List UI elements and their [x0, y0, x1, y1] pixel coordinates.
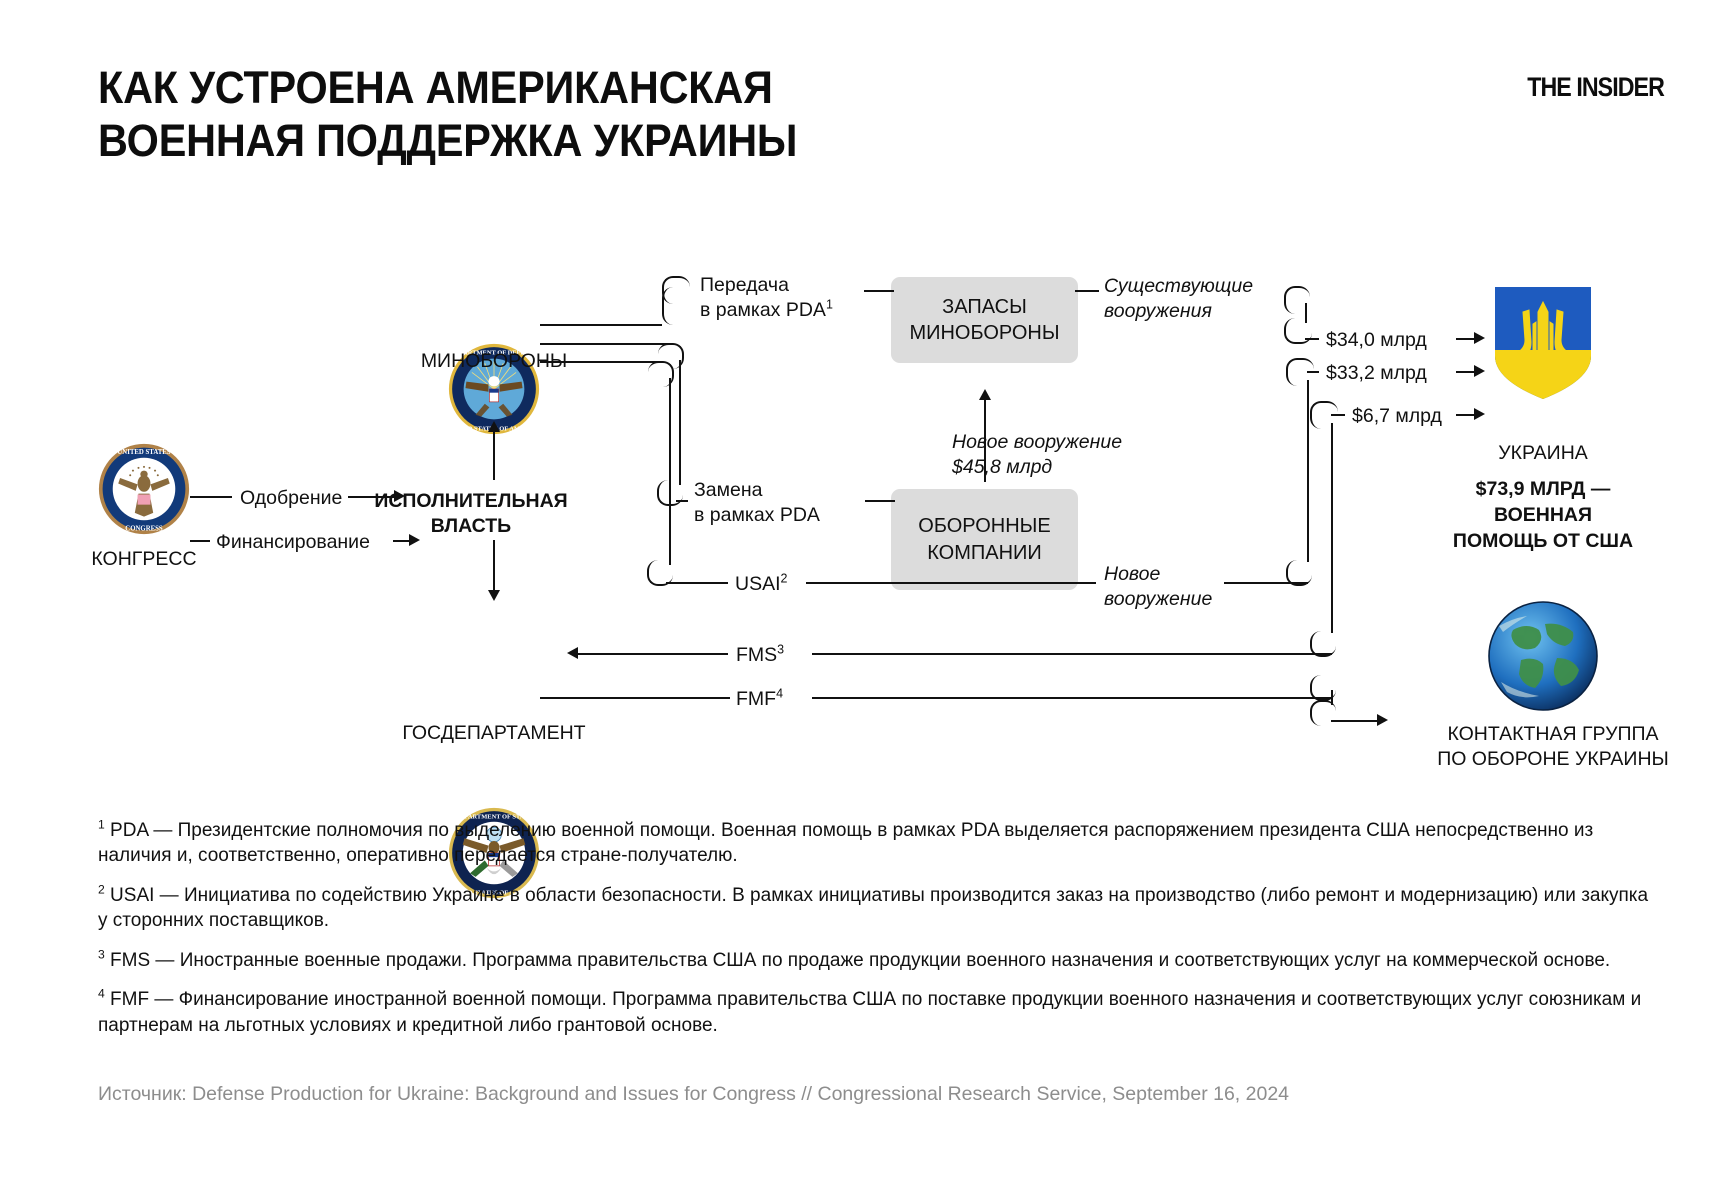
- arrow-fms-to-state: [567, 647, 578, 659]
- box-dod-stocks-line-1: ЗАПАСЫ: [909, 294, 1059, 320]
- total-aid-line-2: ВОЕННАЯ: [1403, 503, 1683, 529]
- connector-approval-arrow-line: [348, 496, 394, 498]
- new-weapons-line-2: $45,8 млрд: [952, 455, 1122, 480]
- usai-text: USAI: [735, 573, 781, 595]
- connector-pda-to-stocks: [864, 290, 894, 292]
- connector-amount2-arrow-line: [1456, 371, 1474, 373]
- edge-label-fmf: FMF4: [736, 687, 783, 712]
- brand-logo: THE INSIDER: [1527, 72, 1664, 103]
- footnote-text-2: USAI — Инициатива по содействию Украине …: [98, 885, 1648, 931]
- edge-label-usai: USAI2: [735, 572, 787, 597]
- connector-dod-usai-vertical: [669, 378, 671, 565]
- executive-line-1: ИСПОЛНИТЕЛЬНАЯ: [326, 489, 616, 514]
- footnote-text-1: PDA — Президентские полномочия по выделе…: [98, 820, 1593, 866]
- connector-usai-to-companies: [806, 582, 1096, 584]
- footnote-item: 2 USAI — Инициатива по содействию Украин…: [98, 883, 1658, 934]
- edge-label-pda-transfer: Передача в рамках PDA1: [700, 273, 833, 323]
- page-title-line-1: КАК УСТРОЕНА АМЕРИКАНСКАЯ: [98, 62, 1018, 115]
- elbow-new-weapons-right-up: [1286, 560, 1312, 586]
- fmf-text: FMF: [736, 688, 776, 710]
- footnote-item: 3 FMS — Иностранные военные продажи. Про…: [98, 948, 1658, 973]
- elbow-fms-up: [1310, 631, 1336, 657]
- connector-congress-approval: [190, 496, 232, 498]
- connector-replace-label-stub: [676, 500, 688, 502]
- fms-footnote-marker: 3: [777, 643, 784, 657]
- connector-fms-run: [812, 653, 1332, 655]
- connector-replace-to-companies: [865, 500, 895, 502]
- connector-executive-state-line: [493, 540, 495, 590]
- total-aid-amount: $73,9 МЛРД — ВОЕННАЯ ПОМОЩЬ ОТ США: [1403, 477, 1683, 555]
- edge-label-financing: Финансирование: [216, 530, 370, 555]
- connector-stocks-existing-stub: [1075, 290, 1099, 292]
- box-dod-stocks: ЗАПАСЫ МИНОБОРОНЫ: [891, 277, 1078, 363]
- connector-executive-dod-line: [493, 432, 495, 480]
- edge-label-pda-replacement: Замена в рамках PDA: [694, 478, 820, 528]
- amount-label-2: $33,2 млрд: [1326, 361, 1427, 386]
- node-label-congress: КОНГРЕСС: [64, 547, 224, 572]
- node-label-state-dept: ГОСДЕПАРТАМЕНТ: [394, 721, 594, 746]
- edge-label-approval: Одобрение: [240, 486, 342, 511]
- source-line: Источник: Defense Production for Ukraine…: [98, 1083, 1289, 1106]
- elbow-dod-pda-corner: [662, 276, 690, 304]
- connector-dod-usai-stub: [540, 361, 660, 363]
- arrow-financing: [409, 534, 420, 546]
- edge-label-fms: FMS3: [736, 643, 784, 668]
- fms-text: FMS: [736, 644, 777, 666]
- existing-weapons-line-2: вооружения: [1104, 299, 1253, 324]
- total-aid-line-3: ПОМОЩЬ ОТ США: [1403, 529, 1683, 555]
- new-weapons-right-line-2: вооружение: [1104, 587, 1212, 612]
- congress-seal-svg: UNITED STATES CONGRESS: [98, 443, 190, 535]
- connector-amount3-vertical: [1331, 423, 1333, 633]
- page-title: КАК УСТРОЕНА АМЕРИКАНСКАЯ ВОЕННАЯ ПОДДЕР…: [98, 62, 1018, 167]
- svg-text:UNITED STATES: UNITED STATES: [117, 449, 170, 456]
- page-title-line-2: ВОЕННАЯ ПОДДЕРЖКА УКРАИНЫ: [98, 115, 1018, 168]
- box-companies-line-2: КОМПАНИИ: [918, 540, 1050, 566]
- connector-congress-financing: [190, 540, 210, 542]
- contact-group-line-1: КОНТАКТНАЯ ГРУППА: [1403, 722, 1703, 747]
- arrow-amount3-to-ukraine: [1474, 408, 1485, 420]
- connector-fmf-run: [812, 697, 1332, 699]
- arrow-fmf-to-contact-group: [1377, 714, 1388, 726]
- footnotes: 1 PDA — Президентские полномочия по выде…: [98, 818, 1658, 1052]
- box-dod-stocks-line-2: МИНОБОРОНЫ: [909, 320, 1059, 346]
- box-defense-companies: ОБОРОННЫЕ КОМПАНИИ: [891, 489, 1078, 590]
- node-label-contact-group: КОНТАКТНАЯ ГРУППА ПО ОБОРОНЕ УКРАИНЫ: [1403, 722, 1703, 772]
- footnote-text-4: FMF — Финансирование иностранной военной…: [98, 989, 1641, 1035]
- pda-transfer-line-2: в рамках PDA: [700, 299, 826, 321]
- node-label-ukraine: УКРАИНА: [1443, 441, 1643, 466]
- connector-fms-to-state: [578, 653, 728, 655]
- contact-group-line-2: ПО ОБОРОНЕ УКРАИНЫ: [1403, 747, 1703, 772]
- connector-dod-replace-stub: [540, 343, 670, 345]
- connector-dod-pda-stub: [540, 324, 662, 326]
- connector-financing-arrow-line: [393, 540, 409, 542]
- pda-replace-line-2: в рамках PDA: [694, 503, 820, 528]
- arrow-amount2-to-ukraine: [1474, 365, 1485, 377]
- ukraine-emblem-icon: [1492, 284, 1594, 402]
- existing-weapons-line-1: Существующие: [1104, 274, 1253, 299]
- footnote-text-3: FMS — Иностранные военные продажи. Прогр…: [110, 950, 1610, 971]
- globe-icon: [1487, 600, 1599, 712]
- pda-replace-line-1: Замена: [694, 478, 820, 503]
- fmf-footnote-marker: 4: [776, 687, 783, 701]
- footnote-marker-4: 4: [98, 987, 105, 1001]
- connector-amount2-stub: [1307, 371, 1319, 373]
- arrow-companies-to-stocks: [979, 389, 991, 400]
- usai-footnote-marker: 2: [781, 572, 788, 586]
- footnote-marker-3: 3: [98, 947, 105, 961]
- connector-usai-label-stub: [666, 582, 728, 584]
- connector-amount3-stub: [1331, 414, 1345, 416]
- footnote-item: 4 FMF — Финансирование иностранной военн…: [98, 987, 1658, 1038]
- edge-label-new-weapons-right: Новое вооружение: [1104, 562, 1212, 613]
- globe-svg: [1487, 600, 1599, 712]
- arrow-executive-to-dod: [488, 421, 500, 432]
- ukraine-emblem-svg: [1492, 284, 1594, 402]
- connector-amount1-stub: [1305, 338, 1319, 340]
- connector-amount1-arrow-line: [1456, 338, 1474, 340]
- congress-seal-icon: UNITED STATES CONGRESS: [98, 443, 190, 535]
- new-weapons-line-1: Новое вооружение: [952, 430, 1122, 455]
- svg-text:CONGRESS: CONGRESS: [125, 525, 163, 532]
- connector-dod-replace-vertical: [679, 360, 681, 485]
- total-aid-line-1: $73,9 МЛРД —: [1403, 477, 1683, 503]
- footnote-marker-2: 2: [98, 883, 105, 897]
- amount-label-3: $6,7 млрд: [1352, 404, 1442, 429]
- edge-label-existing-weapons: Существующие вооружения: [1104, 274, 1253, 325]
- footnote-item: 1 PDA — Президентские полномочия по выде…: [98, 818, 1658, 869]
- arrow-approval: [394, 490, 405, 502]
- connector-amount3-arrow-line: [1456, 414, 1474, 416]
- pda-transfer-line-1: Передача: [700, 273, 833, 298]
- footnote-marker-1: 1: [98, 818, 105, 832]
- connector-amount2-vertical: [1307, 380, 1309, 562]
- connector-fmf-group-line: [1331, 720, 1377, 722]
- edge-label-new-weapons-45-8: Новое вооружение $45,8 млрд: [952, 430, 1122, 481]
- new-weapons-right-line-1: Новое: [1104, 562, 1212, 587]
- pda-transfer-footnote-marker: 1: [826, 297, 833, 311]
- amount-label-1: $34,0 млрд: [1326, 328, 1427, 353]
- arrow-amount1-to-ukraine: [1474, 332, 1485, 344]
- arrow-executive-to-state: [488, 590, 500, 601]
- box-companies-line-1: ОБОРОННЫЕ: [918, 513, 1050, 539]
- connector-state-fmf-stub: [540, 697, 730, 699]
